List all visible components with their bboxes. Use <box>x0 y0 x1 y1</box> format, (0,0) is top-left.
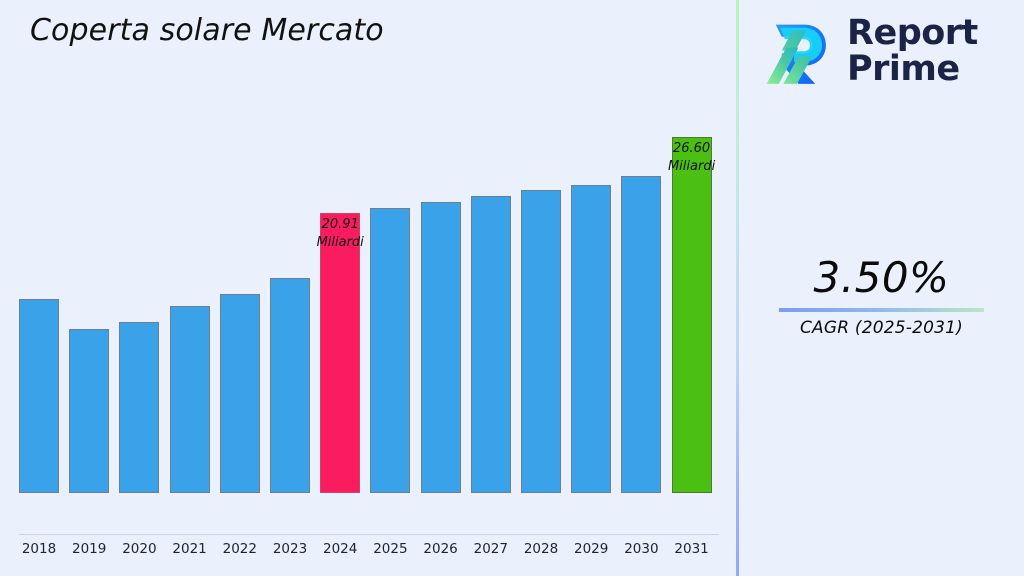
cagr-divider-rule <box>779 308 984 312</box>
bar-2029[interactable] <box>571 185 611 493</box>
cagr-value: 3.50% <box>739 256 1024 300</box>
bar-2020[interactable] <box>119 322 159 493</box>
x-tick-2031: 2031 <box>662 541 722 557</box>
bar-2023[interactable] <box>270 278 310 493</box>
bar-2031[interactable] <box>672 137 712 493</box>
brand-name-line1: Report <box>847 16 978 52</box>
infographic-canvas: Coperta solare Mercato 20.91 Miliardi 26… <box>0 0 1024 576</box>
brand-wordmark: Report Prime <box>847 16 978 87</box>
cagr-callout: 3.50% CAGR (2025-2031) <box>739 256 1024 338</box>
brand-name-line2: Prime <box>847 52 978 88</box>
bar-2027[interactable] <box>471 196 511 493</box>
bar-2028[interactable] <box>521 190 561 493</box>
bar-2025[interactable] <box>370 208 410 493</box>
bar-2021[interactable] <box>170 306 210 493</box>
report-prime-r-mark-icon <box>759 14 835 90</box>
brand-panel: Report Prime 3.50% CAGR (2025-2031) <box>739 0 1024 576</box>
bar-chart-plot-area: 20.91 Miliardi 26.60 Miliardi 2018 2019 … <box>0 0 737 535</box>
x-axis-line <box>19 534 719 535</box>
cagr-caption: CAGR (2025-2031) <box>739 318 1024 338</box>
bar-2030[interactable] <box>621 176 661 493</box>
bar-2019[interactable] <box>69 329 109 493</box>
bar-2022[interactable] <box>220 294 260 493</box>
bar-2024[interactable] <box>320 213 360 493</box>
brand-logo: Report Prime <box>759 14 978 90</box>
chart-panel: Coperta solare Mercato 20.91 Miliardi 26… <box>0 0 737 576</box>
bar-2026[interactable] <box>421 202 461 493</box>
bar-2018[interactable] <box>19 299 59 493</box>
